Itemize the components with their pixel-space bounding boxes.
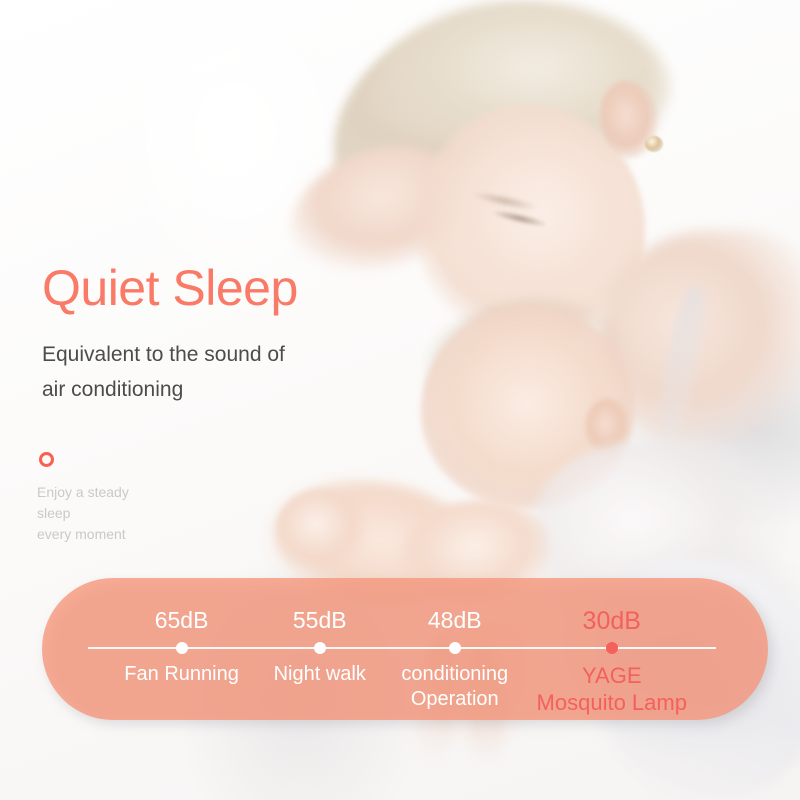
baby-fist	[275, 490, 367, 576]
decibel-label: conditioningOperation	[401, 662, 508, 712]
decibel-dot	[176, 642, 188, 654]
decibel-comparison-bar: 65dBFan Running55dBNight walk48dBconditi…	[42, 578, 768, 720]
decibel-dot	[449, 642, 461, 654]
decibel-label-line: Mosquito Lamp	[537, 689, 687, 716]
fineprint: Enjoy a steady sleep every moment	[37, 482, 129, 545]
decibel-label: YAGEMosquito Lamp	[537, 662, 687, 716]
decibel-label: Night walk	[274, 662, 366, 687]
fineprint-line-3: every moment	[37, 524, 129, 545]
decibel-label-line: Night walk	[274, 662, 366, 687]
decibel-label-line: conditioning	[401, 662, 508, 687]
decibel-scale: 65dBFan Running55dBNight walk48dBconditi…	[42, 578, 768, 720]
product-poster: Quiet Sleep Equivalent to the sound of a…	[0, 0, 800, 800]
decibel-dot	[314, 642, 326, 654]
page-title: Quiet Sleep	[42, 263, 298, 313]
decibel-value: 65dB	[155, 607, 209, 634]
decibel-label-line: YAGE	[537, 662, 687, 689]
subtitle-line-2: air conditioning	[42, 372, 285, 407]
decibel-dot-highlight	[606, 642, 618, 654]
decibel-label-line: Fan Running	[124, 662, 239, 687]
decibel-label-line: Operation	[401, 687, 508, 712]
fineprint-line-1: Enjoy a steady	[37, 482, 129, 503]
subtitle-line-1: Equivalent to the sound of	[42, 337, 285, 372]
decibel-value: 55dB	[293, 607, 347, 634]
decibel-value: 30dB	[583, 607, 641, 636]
decibel-value: 48dB	[428, 607, 482, 634]
earring	[645, 136, 663, 152]
decibel-label: Fan Running	[124, 662, 239, 687]
fineprint-line-2: sleep	[37, 503, 129, 524]
subtitle: Equivalent to the sound of air condition…	[42, 337, 285, 407]
ring-icon	[39, 452, 54, 467]
